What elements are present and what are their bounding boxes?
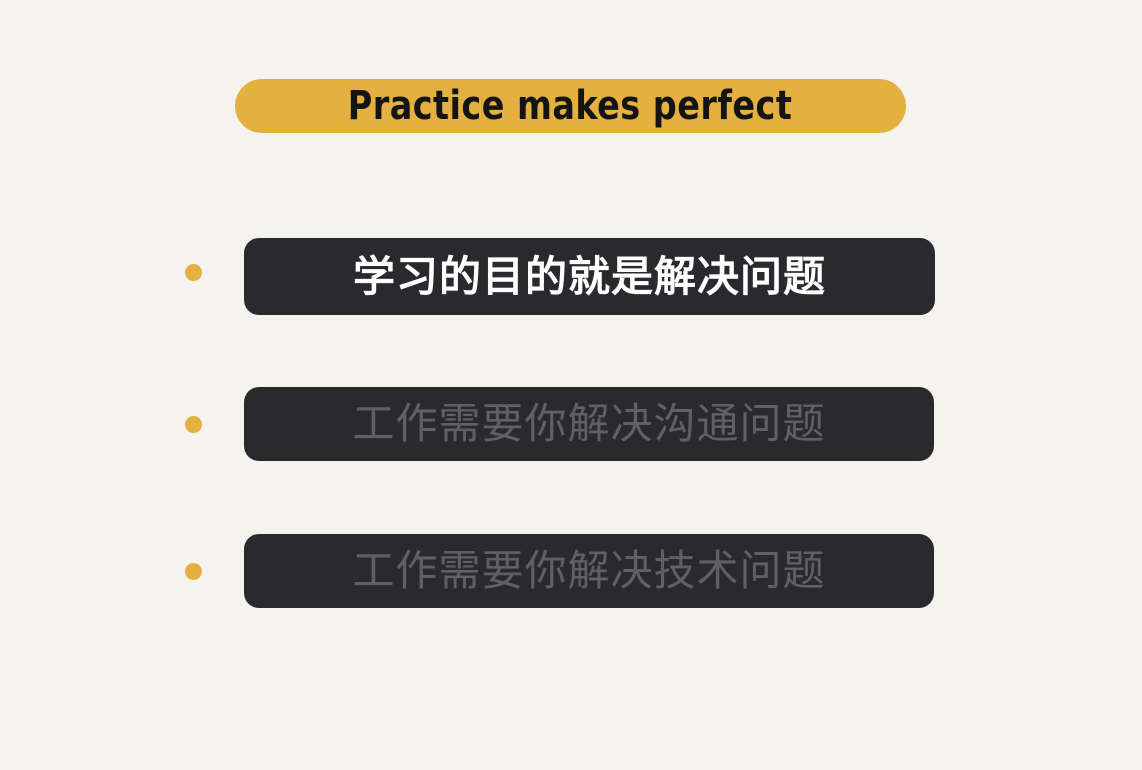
- bullet-dot-icon: [185, 264, 202, 281]
- list-item-label: 学习的目的就是解决问题: [353, 254, 826, 300]
- list-item-label: 工作需要你解决沟通问题: [352, 401, 825, 447]
- slide-canvas: Practice makes perfect 学习的目的就是解决问题 工作需要你…: [0, 0, 1142, 770]
- bullet-list: 学习的目的就是解决问题 工作需要你解决沟通问题 工作需要你解决技术问题: [0, 0, 1142, 770]
- list-item-label: 工作需要你解决技术问题: [352, 548, 825, 594]
- list-item-box[interactable]: 工作需要你解决沟通问题: [244, 387, 934, 461]
- bullet-dot-icon: [185, 563, 202, 580]
- list-item-box[interactable]: 学习的目的就是解决问题: [244, 238, 935, 315]
- bullet-dot-icon: [185, 416, 202, 433]
- list-item-box[interactable]: 工作需要你解决技术问题: [244, 534, 934, 608]
